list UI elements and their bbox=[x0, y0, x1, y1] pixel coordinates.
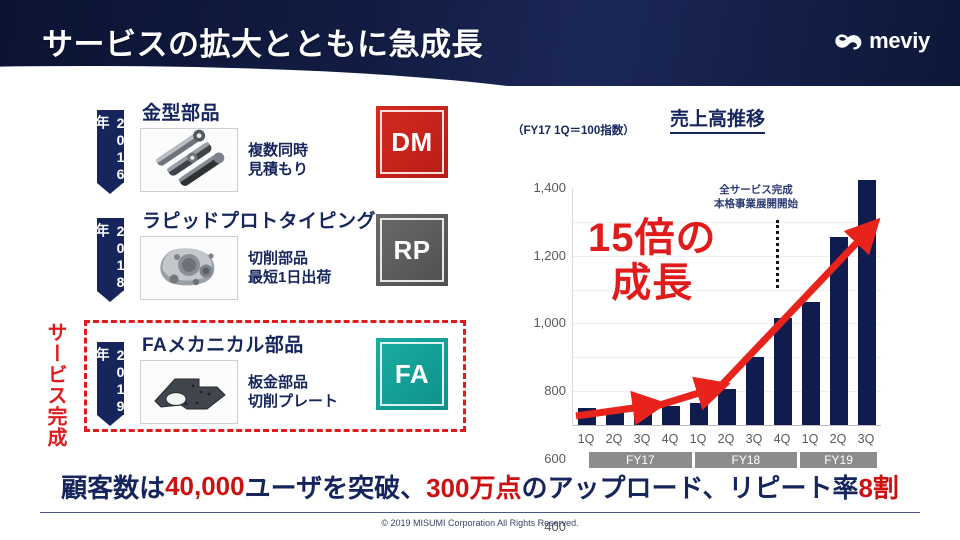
milestone-line2: 本格事業展開開始 bbox=[714, 198, 798, 212]
chart-y-tick-label: 1,400 bbox=[533, 180, 566, 195]
timeline-row-fa: FAメカニカル部品 板金部品 切削プレート bbox=[140, 330, 338, 424]
row-desc-line2: 見積もり bbox=[248, 160, 308, 179]
slide-root: サービスの拡大とともに急成長 meviy サービス完成 2016年 2018年 … bbox=[0, 0, 960, 540]
chart-x-tick-label: 4Q bbox=[768, 432, 796, 446]
row-desc-line2: 最短1日出荷 bbox=[248, 268, 331, 287]
chart-bar bbox=[746, 357, 763, 425]
machined-housing-photo bbox=[140, 236, 238, 300]
footer-copyright: © 2019 MISUMI Corporation All Rights Res… bbox=[0, 518, 960, 528]
chart-x-tick-label: 2Q bbox=[600, 432, 628, 446]
chart-x-tick-label: 2Q bbox=[824, 432, 852, 446]
milestone-dotted-line-icon bbox=[776, 220, 779, 288]
chart-x-tick-label: 1Q bbox=[796, 432, 824, 446]
growth-callout-line2: 成長 bbox=[588, 261, 717, 306]
service-badge-fa: FA bbox=[376, 338, 448, 410]
banner-part-6: 8割 bbox=[858, 468, 898, 505]
row-description: 板金部品 切削プレート bbox=[248, 373, 338, 411]
chart-axis-baseline bbox=[573, 425, 881, 426]
milestone-line1: 全サービス完成 bbox=[714, 184, 798, 198]
chart-y-tick-label: 600 bbox=[544, 451, 566, 466]
chart-x-labels: 1Q2Q3Q4Q1Q2Q3Q4Q1Q2Q3Q bbox=[572, 432, 880, 446]
meviy-logo: meviy bbox=[833, 26, 930, 56]
footer-divider bbox=[40, 512, 920, 513]
service-badge-dm: DM bbox=[376, 106, 448, 178]
chart-y-tick-label: 1,000 bbox=[533, 316, 566, 331]
chart-x-tick-label: 4Q bbox=[656, 432, 684, 446]
chart-bar bbox=[858, 180, 875, 425]
year-tag-2016: 2016年 bbox=[97, 110, 124, 183]
row-title: 金型部品 bbox=[142, 98, 308, 125]
banner-part-4: 300万点 bbox=[426, 468, 521, 505]
chart-bar-cell bbox=[825, 188, 853, 425]
page-title: サービスの拡大とともに急成長 bbox=[42, 19, 483, 64]
row-description: 切削部品 最短1日出荷 bbox=[248, 249, 331, 287]
chart-bar-cell bbox=[713, 188, 741, 425]
row-title: ラピッドプロトタイピング bbox=[142, 206, 376, 233]
growth-callout-line1: 15倍の bbox=[588, 216, 717, 261]
mold-parts-photo bbox=[140, 128, 238, 192]
chart-bar-cell bbox=[853, 188, 881, 425]
year-tag-2019: 2019年 bbox=[97, 342, 124, 415]
chart-bar bbox=[690, 403, 707, 425]
milestone-annotation: 全サービス完成 本格事業展開開始 bbox=[714, 184, 798, 211]
chart-bar bbox=[634, 408, 651, 425]
sheet-metal-plate-photo bbox=[140, 360, 238, 424]
row-title: FAメカニカル部品 bbox=[142, 330, 338, 357]
sales-trend-chart: 売上高推移 （FY17 1Q＝100指数） 02004006008001,000… bbox=[500, 96, 960, 456]
chart-y-tick-label: 1,200 bbox=[533, 248, 566, 263]
chart-bar bbox=[662, 406, 679, 425]
banner-part-5: のアップロード、リピート率 bbox=[521, 468, 858, 505]
chart-subtitle-unit: （FY17 1Q＝100指数） bbox=[512, 122, 635, 138]
service-badge-rp: RP bbox=[376, 214, 448, 286]
chart-x-tick-label: 2Q bbox=[712, 432, 740, 446]
timeline-column: サービス完成 2016年 2018年 2019年 金型部品 bbox=[0, 90, 500, 450]
year-tag-label: 2019年 bbox=[93, 347, 129, 415]
chart-bar-cell bbox=[797, 188, 825, 425]
badge-label: FA bbox=[395, 359, 429, 390]
service-complete-label: サービス完成 bbox=[44, 322, 65, 448]
chart-x-tick-label: 1Q bbox=[572, 432, 600, 446]
chart-bar-cell bbox=[769, 188, 797, 425]
summary-banner: 顧客数は40,000ユーザを突破、300万点のアップロード、リピート率8割 bbox=[0, 466, 960, 506]
chart-x-tick-label: 1Q bbox=[684, 432, 712, 446]
growth-callout: 15倍の 成長 bbox=[588, 216, 717, 306]
row-desc-line1: 複数同時 bbox=[248, 141, 308, 160]
chart-bar bbox=[606, 409, 623, 425]
year-tag-label: 2016年 bbox=[93, 115, 129, 183]
chart-bar bbox=[802, 302, 819, 425]
chart-x-tick-label: 3Q bbox=[740, 432, 768, 446]
chart-bar bbox=[774, 318, 791, 425]
banner-part-1: 顧客数は bbox=[61, 468, 165, 505]
timeline-row-rp: ラピッドプロトタイピング 切削部品 最短1日出荷 bbox=[140, 206, 376, 300]
infinity-icon bbox=[833, 30, 863, 52]
slide-header: サービスの拡大とともに急成長 meviy bbox=[0, 0, 960, 86]
row-desc-line1: 切削部品 bbox=[248, 249, 331, 268]
year-tag-2018: 2018年 bbox=[97, 218, 124, 291]
chart-title: 売上高推移 bbox=[670, 104, 765, 134]
chart-x-tick-label: 3Q bbox=[852, 432, 880, 446]
row-desc-line2: 切削プレート bbox=[248, 392, 338, 411]
banner-part-2: 40,000 bbox=[165, 471, 245, 502]
badge-label: DM bbox=[391, 127, 432, 158]
badge-label: RP bbox=[393, 235, 430, 266]
row-description: 複数同時 見積もり bbox=[248, 141, 308, 179]
chart-bar bbox=[578, 408, 595, 425]
banner-part-3: ユーザを突破、 bbox=[245, 468, 426, 505]
row-desc-line1: 板金部品 bbox=[248, 373, 338, 392]
chart-bar bbox=[830, 237, 847, 425]
year-tag-label: 2018年 bbox=[93, 223, 129, 291]
chart-x-tick-label: 3Q bbox=[628, 432, 656, 446]
chart-bar bbox=[718, 389, 735, 425]
chart-bar-cell bbox=[741, 188, 769, 425]
timeline-row-dm: 金型部品 複 bbox=[140, 98, 308, 192]
logo-wordmark: meviy bbox=[869, 30, 930, 52]
chart-y-tick-label: 800 bbox=[544, 383, 566, 398]
